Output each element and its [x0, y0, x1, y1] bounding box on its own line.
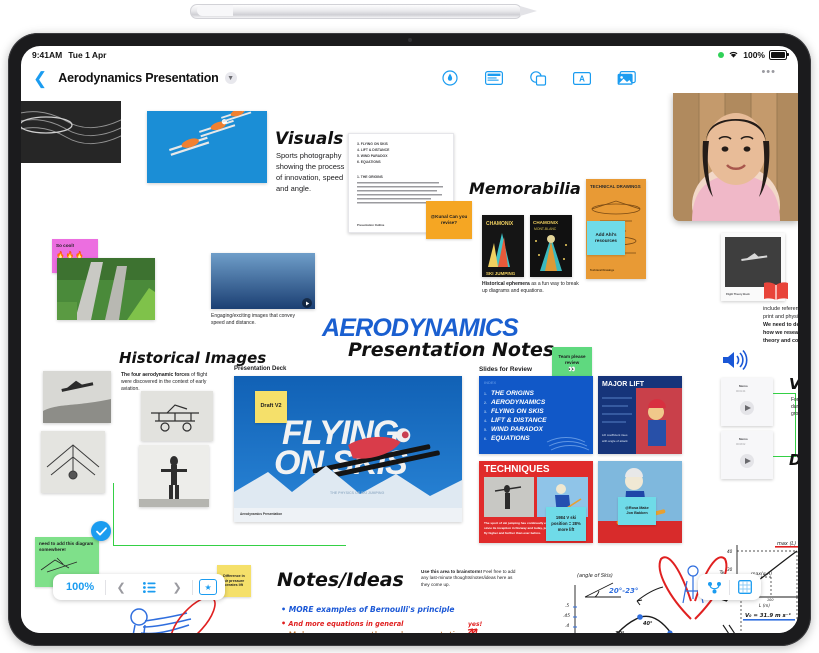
notes-item-text: And more equations in general	[288, 620, 403, 628]
sticky-text: @Kunal Can you revise?	[430, 214, 468, 226]
historical-heading: Historical Images	[119, 349, 266, 367]
status-left: 9:41AM Tue 1 Apr	[32, 50, 107, 60]
video-call-participant[interactable]	[673, 93, 798, 221]
svg-text:FLYING ON SKIS: FLYING ON SKIS	[491, 408, 544, 415]
ski-jumpers-photo[interactable]	[147, 111, 267, 183]
checkmark-badge-icon[interactable]	[91, 521, 111, 541]
toolbar-divider	[105, 580, 106, 595]
svg-text:20°-23°: 20°-23°	[609, 587, 638, 595]
battery-percent: 100%	[743, 50, 765, 60]
svg-text:A: A	[579, 74, 585, 83]
notes-item-text: MORE examples of Bernoulli's principle	[289, 605, 455, 614]
svg-text:THE ORIGINS: THE ORIGINS	[491, 390, 534, 397]
sticky-text: Team please review	[556, 354, 588, 366]
list-view-button[interactable]	[136, 577, 162, 597]
battery-icon	[769, 50, 787, 60]
sticky-sketch-icon	[39, 556, 85, 574]
speaker-icon	[721, 350, 747, 370]
connector-tool-button[interactable]	[701, 577, 727, 597]
blue-photo-caption: Engaging/exciting images that convey spe…	[211, 313, 309, 327]
svg-text:Memo: Memo	[739, 384, 748, 388]
svg-text:00:03:02: 00:03:02	[736, 443, 746, 446]
svg-text:.4: .4	[565, 623, 569, 629]
screenshot-root: 9:41AM Tue 1 Apr 100% ❮ Aerodyna	[0, 0, 819, 653]
sticky-note-tool-icon[interactable]	[484, 70, 504, 87]
references-line3: We need to demons	[763, 321, 798, 329]
ipad-screen: 9:41AM Tue 1 Apr 100% ❮ Aerodyna	[21, 46, 798, 633]
svg-text:Technical Drawings: Technical Drawings	[590, 268, 615, 272]
notes-hint: Use this area to brainstorm! Feel free t…	[421, 569, 519, 588]
svg-text:100: 100	[767, 598, 773, 602]
memorabilia-caption-bold: Historical ephemera	[482, 281, 530, 287]
voice-memo-card-1[interactable]: Memo 00:01:24	[721, 378, 773, 426]
sticky-add-ahls[interactable]: Add Ahl's resources	[587, 221, 625, 255]
blue-gradient-photo[interactable]	[211, 253, 315, 309]
notes-item-2[interactable]: • Make sure we run through presentation	[281, 631, 466, 633]
references-text: include references, print and physical s…	[763, 305, 798, 346]
sticky-text: @Rosa Make Jon Bakken	[622, 506, 652, 516]
svg-text:4.: 4.	[484, 419, 487, 423]
svg-text:30: 30	[727, 567, 733, 572]
svg-text:SKI JUMPING: SKI JUMPING	[486, 271, 516, 276]
svg-text:00:01:24: 00:01:24	[736, 390, 746, 393]
svg-text:3. FLYING ON SKIS: 3. FLYING ON SKIS	[357, 142, 389, 146]
favorite-button[interactable]: ★	[195, 577, 221, 597]
svg-text:Memo: Memo	[739, 437, 748, 441]
notes-item-0[interactable]: • MORE examples of Bernoulli's principle	[281, 605, 454, 614]
ink-tool-icon[interactable]	[440, 70, 460, 87]
next-page-button[interactable]: ❯	[164, 577, 190, 597]
visuals-heading: Visuals	[275, 129, 343, 149]
svg-text:6. EQUATIONS: 6. EQUATIONS	[357, 160, 381, 164]
prev-page-button[interactable]: ❮	[108, 577, 134, 597]
notes-reply-arrow	[459, 627, 481, 633]
canvas-bottom-right-toolbar	[698, 574, 761, 600]
historical-body: The four aerodynamic forces of flight we…	[121, 372, 209, 392]
svg-text:2.: 2.	[484, 401, 487, 405]
diagrams-heading: Di	[789, 451, 798, 469]
svg-text:Flight Theory Book: Flight Theory Book	[726, 292, 750, 296]
apple-pencil	[190, 4, 522, 19]
svg-text:TECHNICAL DRAWINGS: TECHNICAL DRAWINGS	[590, 184, 641, 189]
references-line2: print and physical s	[763, 313, 798, 321]
zoom-level-button[interactable]: 100%	[57, 581, 103, 593]
vintage-photo-top-left[interactable]	[21, 101, 121, 163]
play-button-overlay[interactable]	[302, 298, 312, 308]
ipad-device: 9:41AM Tue 1 Apr 100% ❮ Aerodyna	[8, 33, 811, 646]
recording-indicator-icon	[718, 52, 724, 58]
sticky-kunal-revise[interactable]: @Kunal Can you revise?	[426, 201, 472, 239]
svg-text:40: 40	[727, 549, 733, 554]
sticky-text: Add Ahl's resources	[591, 232, 621, 244]
svg-text:TECHNIQUES: TECHNIQUES	[484, 464, 550, 475]
status-date: Tue 1 Apr	[68, 50, 106, 60]
memorabilia-caption: Historical ephemera as a fun way to brea…	[482, 281, 580, 295]
sticky-emoji: 👀	[568, 366, 575, 374]
svg-text:L (m): L (m)	[759, 603, 770, 608]
historical-body-bold: The four aerodynamic forces	[121, 372, 190, 378]
pencil-flat-edge	[197, 5, 233, 16]
nav-bar: ❮ Aerodynamics Presentation ▼ A	[21, 63, 798, 93]
star-icon: ★	[199, 579, 217, 595]
page-title: Aerodynamics Presentation	[58, 71, 218, 85]
notes-heading: Notes/Ideas	[277, 569, 404, 591]
svg-text:(angle of Skis): (angle of Skis)	[577, 573, 613, 579]
svg-text:WIND PARADOX: WIND PARADOX	[491, 426, 543, 433]
svg-text:1.: 1.	[484, 392, 487, 396]
canvas-subtitle: Presentation Notes	[348, 339, 554, 361]
svg-text:AERODYNAMICS: AERODYNAMICS	[490, 399, 546, 406]
front-camera-icon	[408, 38, 412, 42]
svg-text:MAJOR LIFT: MAJOR LIFT	[602, 381, 645, 388]
shapes-tool-icon[interactable]	[528, 70, 548, 87]
svg-text:6.: 6.	[484, 437, 487, 441]
notes-item-text: Make sure we run through presentation	[289, 631, 467, 633]
svg-text:V₀ = 31.9 m s⁻¹: V₀ = 31.9 m s⁻¹	[745, 612, 792, 619]
svg-text:with angle of attack: with angle of attack	[602, 439, 628, 443]
voice-memo-card-2[interactable]: Memo 00:03:02	[721, 431, 773, 479]
references-line4: how we researched	[763, 329, 798, 337]
review-label: Slides for Review	[479, 366, 532, 373]
whiteboard-canvas[interactable]: Visuals Sports photography showing the p…	[21, 93, 798, 633]
sticky-draft-v2[interactable]: Draft V2	[255, 391, 287, 423]
toolbar-divider-3	[729, 580, 730, 595]
svg-text:3.: 3.	[484, 410, 487, 414]
status-right: 100%	[718, 50, 787, 60]
svg-text:LIFT & DISTANCE: LIFT & DISTANCE	[491, 417, 547, 424]
index-slide[interactable]: INDEX THE ORIGINSAERODYNAMICSFLYING ON S…	[479, 376, 593, 454]
svg-text:Presentation Outline: Presentation Outline	[357, 223, 385, 227]
historical-photo-3[interactable]	[41, 431, 105, 493]
chevron-down-icon[interactable]: ▼	[225, 72, 237, 84]
voice-heading: Voice Memos	[789, 375, 798, 393]
sticky-1984[interactable]: 1984 V ski position = 28% more lift	[546, 507, 586, 541]
notes-hint-bold: Use this area to brainstorm!	[421, 569, 482, 574]
grid-tool-button[interactable]	[732, 577, 758, 597]
svg-text:fly higher and further than ev: fly higher and further than ever before.	[484, 531, 541, 535]
svg-text:1. THE ORIGINS: 1. THE ORIGINS	[357, 175, 384, 179]
svg-text:.45: .45	[563, 613, 570, 619]
svg-text:CHAMONIX: CHAMONIX	[486, 221, 514, 227]
svg-text:30°: 30°	[615, 631, 625, 633]
svg-text:INDEX: INDEX	[484, 380, 497, 385]
sticky-text: Draft V2	[260, 403, 281, 410]
deck-label: Presentation Deck	[234, 366, 286, 372]
major-lift-slide[interactable]: MAJOR LIFT Lift coefficient riseswith an…	[598, 376, 682, 454]
status-time: 9:41AM	[32, 50, 62, 60]
text-box-tool-icon[interactable]: A	[572, 70, 592, 87]
historical-photo-2[interactable]	[141, 391, 213, 441]
sticky-make-jon[interactable]: @Rosa Make Jon Bakken	[618, 497, 656, 525]
tool-palette: A	[440, 70, 786, 87]
sticky-text: 1984 V ski position = 28% more lift	[550, 515, 582, 532]
svg-text:5.: 5.	[484, 428, 487, 432]
svg-text:4. LIFT & DISTANCE: 4. LIFT & DISTANCE	[357, 148, 390, 152]
svg-text:MONT-BLANC: MONT-BLANC	[534, 227, 557, 231]
canvas-bottom-toolbar: 100% ❮ ❯ ★	[53, 574, 225, 600]
svg-text:5. WIND PARADOX: 5. WIND PARADOX	[357, 154, 388, 158]
toolbar-divider-2	[192, 580, 193, 595]
svg-text:EQUATIONS: EQUATIONS	[491, 435, 530, 442]
media-tool-icon[interactable]	[616, 70, 636, 87]
book-icon	[763, 281, 789, 301]
status-bar: 9:41AM Tue 1 Apr 100%	[21, 46, 798, 63]
chamonix-poster-1[interactable]: CHAMONIX SKI JUMPING	[482, 215, 524, 277]
green-connector-deck	[113, 483, 346, 546]
overflow-menu-button[interactable]: •••	[761, 66, 776, 78]
sticky-text: need to add this diagram somewhere!	[39, 541, 93, 552]
references-line5: theory and concept	[763, 337, 798, 345]
visuals-body: Sports photography showing the process o…	[276, 151, 352, 195]
references-line1: include references,	[763, 305, 798, 313]
wifi-icon	[728, 50, 739, 59]
notes-item-1[interactable]: • And more equations in general	[281, 619, 403, 628]
chamonix-poster-2[interactable]: CHAMONIX MONT-BLANC	[530, 215, 572, 277]
voice-body: For reference during lectures — group re…	[791, 397, 798, 417]
sticky-text: So cool!	[56, 243, 94, 249]
historical-photo-1[interactable]	[43, 371, 111, 423]
memorabilia-heading: Memorabilia	[469, 179, 581, 198]
svg-text:.5: .5	[565, 603, 569, 609]
ski-hill-photo[interactable]	[57, 258, 155, 320]
svg-text:Lift coefficient rises: Lift coefficient rises	[602, 433, 628, 437]
back-button[interactable]: ❮	[33, 70, 47, 87]
svg-text:CHAMONIX: CHAMONIX	[533, 220, 559, 225]
